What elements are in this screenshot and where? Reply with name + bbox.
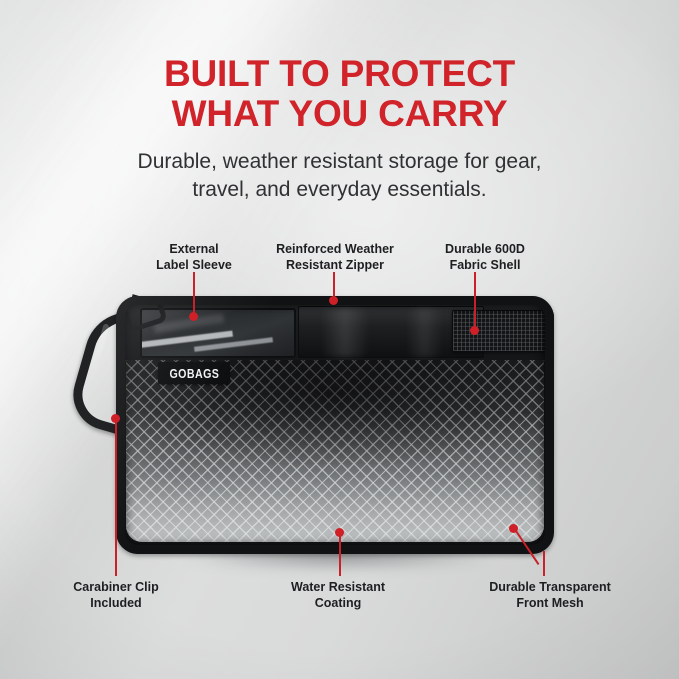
callout-zipper-line-1: Reinforced Weather bbox=[245, 242, 425, 258]
callout-mesh-line-1: Durable Transparent bbox=[450, 580, 650, 596]
mesh-shading-overlay bbox=[126, 360, 544, 542]
infographic-canvas: BUILT TO PROTECT WHAT YOU CARRY Durable,… bbox=[0, 0, 679, 679]
webbing-grab-handle bbox=[452, 310, 554, 352]
bag-body: GOBAGS bbox=[116, 296, 554, 554]
callout-label-sleeve: External Label Sleeve bbox=[124, 242, 264, 273]
leader-dot-zipper bbox=[329, 296, 338, 305]
zipper-flap-sheen-1 bbox=[321, 307, 369, 357]
callout-carabiner: Carabiner Clip Included bbox=[36, 580, 196, 611]
callout-label-sleeve-line-1: External bbox=[124, 242, 264, 258]
leader-line-coating bbox=[339, 532, 341, 576]
leader-line-carabiner bbox=[115, 418, 117, 576]
subheading-line-1: Durable, weather resistant storage for g… bbox=[138, 150, 542, 173]
page-subtitle: Durable, weather resistant storage for g… bbox=[0, 148, 679, 203]
callout-fabric-shell-line-2: Fabric Shell bbox=[410, 258, 560, 274]
leader-line-label-sleeve bbox=[193, 272, 195, 316]
callout-coating-line-2: Coating bbox=[258, 596, 418, 612]
zipper-flap-sheen-2 bbox=[406, 307, 443, 357]
leader-dot-coating bbox=[335, 528, 344, 537]
leader-line-fabric-shell bbox=[474, 272, 476, 330]
leader-dot-fabric-shell bbox=[470, 326, 479, 335]
leader-dot-carabiner bbox=[111, 414, 120, 423]
headline-line-2: WHAT YOU CARRY bbox=[0, 94, 679, 134]
callout-zipper: Reinforced Weather Resistant Zipper bbox=[245, 242, 425, 273]
callout-carabiner-line-1: Carabiner Clip bbox=[36, 580, 196, 596]
webbing-end-cap bbox=[541, 311, 554, 351]
page-title: BUILT TO PROTECT WHAT YOU CARRY bbox=[0, 54, 679, 134]
callout-mesh: Durable Transparent Front Mesh bbox=[450, 580, 650, 611]
headline-line-1: BUILT TO PROTECT bbox=[164, 53, 515, 94]
product-bag: GOBAGS bbox=[116, 296, 554, 554]
callout-label-sleeve-line-2: Label Sleeve bbox=[124, 258, 264, 274]
callout-coating: Water Resistant Coating bbox=[258, 580, 418, 611]
leader-dot-mesh bbox=[509, 524, 518, 533]
brand-logo-patch: GOBAGS bbox=[158, 362, 230, 384]
subheading-line-2: travel, and everyday essentials. bbox=[0, 176, 679, 204]
callout-fabric-shell: Durable 600D Fabric Shell bbox=[410, 242, 560, 273]
callout-mesh-line-2: Front Mesh bbox=[450, 596, 650, 612]
callout-carabiner-line-2: Included bbox=[36, 596, 196, 612]
leader-dot-label-sleeve bbox=[189, 312, 198, 321]
callout-coating-line-1: Water Resistant bbox=[258, 580, 418, 596]
callout-fabric-shell-line-1: Durable 600D bbox=[410, 242, 560, 258]
callout-zipper-line-2: Resistant Zipper bbox=[245, 258, 425, 274]
leader-line-mesh-vertical bbox=[543, 551, 545, 576]
zipper-teeth bbox=[128, 296, 478, 298]
brand-logo-text: GOBAGS bbox=[169, 366, 219, 381]
bag-front-mesh-panel bbox=[126, 360, 544, 542]
